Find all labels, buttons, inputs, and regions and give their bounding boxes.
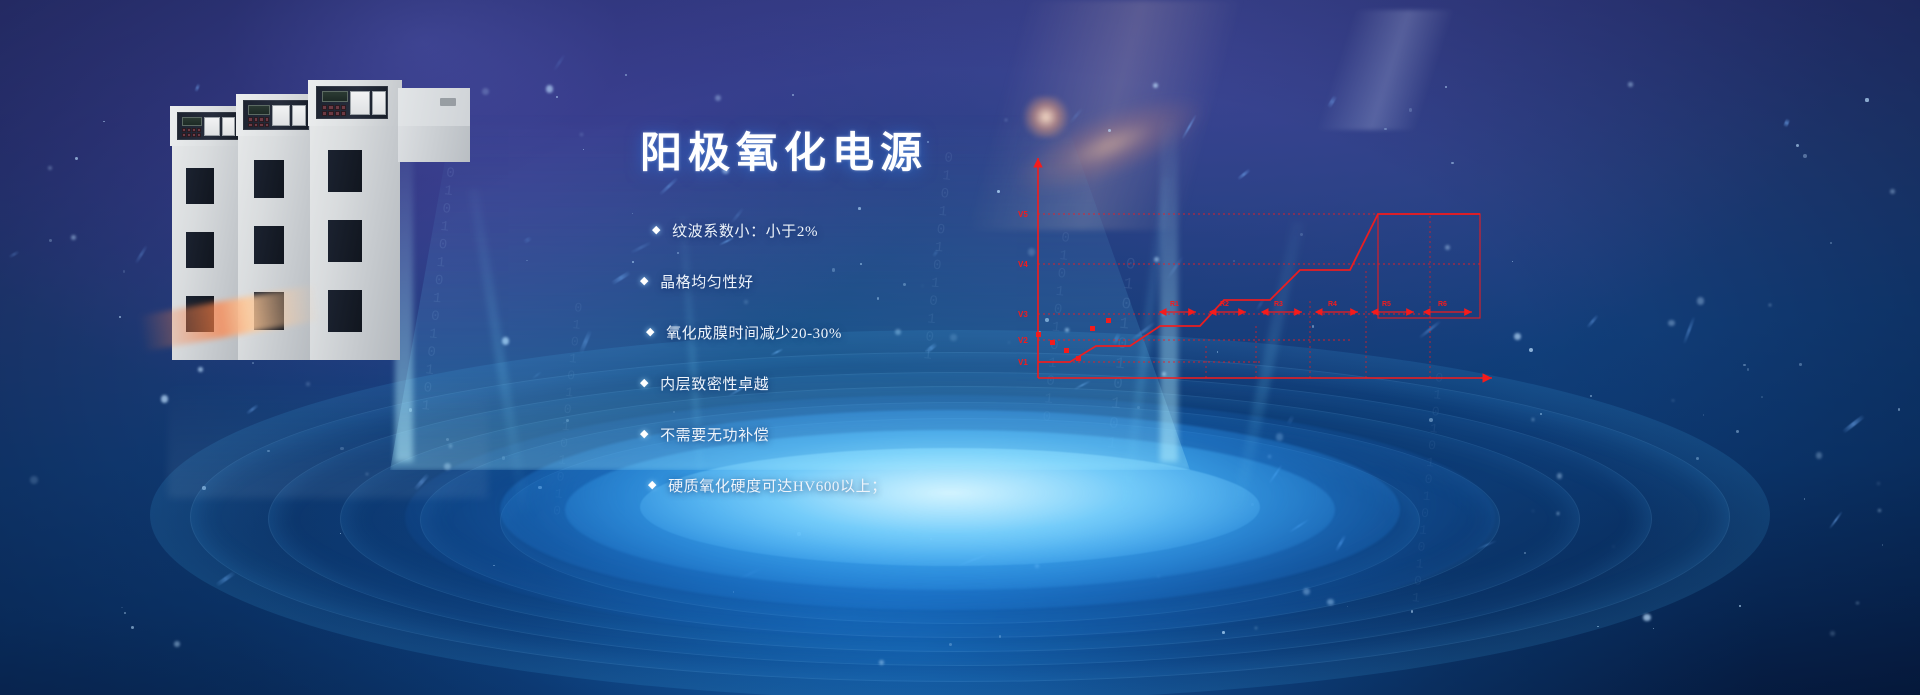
diagram-x-tick: R5 [1382,301,1391,308]
feature-item: ◆不需要无功补偿 [640,424,1160,445]
cabinet-panel-1 [316,86,388,119]
diagram-x-tick: R2 [1220,301,1229,308]
diagram-x-tick: R1 [1170,301,1179,308]
cabinet-label-1a [350,91,370,115]
hero-banner: 0101010101010101010101010100101010101010… [0,0,1920,695]
diagram-y-tick: V2 [1018,336,1028,345]
technical-diagram: V5V4V3V2V1 R1R2R3R4R5R6 [1010,150,1510,400]
diagram-svg: V5V4V3V2V1 R1R2R3R4R5R6 [1010,150,1510,400]
diagram-gridlines [1038,214,1480,362]
diamond-bullet-icon: ◆ [648,480,657,491]
cabinet-vent-2b [254,226,284,264]
cabinet-vent-1b [328,220,362,262]
diagram-y-tick: V5 [1018,210,1028,219]
cabinet-lcd-3 [182,117,202,126]
diagram-x-tick-labels: R1R2R3R4R5R6 [1170,301,1447,308]
cabinet-lcd-2 [248,105,270,115]
cabinet-vent-3b [186,232,214,268]
cabinet-keypad-2[interactable] [248,117,269,127]
cabinet-reflection [168,378,488,498]
feature-label: 不需要无功补偿 [660,424,769,445]
diamond-bullet-icon: ◆ [652,225,661,236]
cabinet-panel-2 [243,100,309,130]
cabinet-keypad-1[interactable] [322,105,346,116]
feature-label: 内层致密性卓越 [660,373,769,394]
feature-label: 纹波系数小：小于2% [672,220,818,241]
cabinet-lcd-1 [322,91,348,102]
diamond-bullet-icon: ◆ [640,378,649,389]
feature-item: ◆硬质氧化硬度可达HV600以上； [648,475,1160,496]
cabinet-label-2a [272,105,290,126]
cabinet-label-3b [222,117,235,136]
diamond-bullet-icon: ◆ [640,276,649,287]
cabinet-brand-plate-icon [440,98,456,106]
diagram-y-tick: V3 [1018,310,1028,319]
cabinet-panel-3 [177,112,239,140]
diagram-x-tick: R3 [1274,301,1283,308]
feature-label: 氧化成膜时间减少20-30% [666,322,842,343]
diagram-right-box [1378,214,1480,318]
cabinet-top-deck [398,88,470,130]
cabinet-vent-3a [186,168,214,204]
diagram-y-tick: V4 [1018,260,1028,269]
diagram-y-tick: V1 [1018,358,1028,367]
diagram-x-tick: R6 [1438,301,1447,308]
diagram-x-tick: R4 [1328,301,1337,308]
diamond-bullet-icon: ◆ [646,327,655,338]
diagram-y-tick-labels: V5V4V3V2V1 [1018,210,1028,367]
diamond-bullet-icon: ◆ [640,429,649,440]
cabinet-side-extension [398,126,470,162]
cabinet-vent-1c [328,290,362,332]
feature-label: 硬质氧化硬度可达HV600以上； [668,475,887,496]
cabinet-label-3a [204,117,220,136]
cabinet-label-2b [292,105,306,126]
cabinet-keypad-3[interactable] [182,128,201,137]
cabinet-label-1b [372,91,386,115]
diagram-vgridlines [1206,214,1430,378]
cabinet-vent-2a [254,160,284,198]
cabinet-vent-1a [328,150,362,192]
feature-label: 晶格均匀性好 [660,271,754,292]
